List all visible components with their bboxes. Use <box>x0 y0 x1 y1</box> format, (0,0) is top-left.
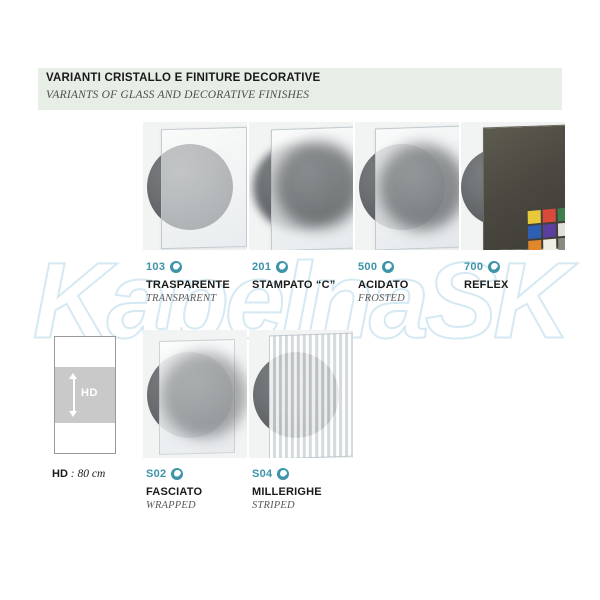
checker-swatch <box>558 207 565 221</box>
checker-swatch <box>528 225 541 239</box>
sample-name-it: STAMPATO “C” <box>252 279 367 291</box>
sample-name-it: TRASPARENTE <box>146 279 261 291</box>
hd-caption-bold: HD <box>52 468 68 480</box>
hd-caption-value: : 80 cm <box>68 468 105 480</box>
sample-name-it: ACIDATO <box>358 279 473 291</box>
finish-badge-icon <box>170 261 182 273</box>
finish-badge-icon <box>488 261 500 273</box>
sample-name-it: FASCIATO <box>146 486 261 498</box>
sample-label-fasciato[interactable]: S02 FASCIATO WRAPPED <box>146 466 261 511</box>
glass-pane-clear <box>161 127 247 249</box>
hd-dimension-diagram: HD <box>54 336 116 454</box>
diffused-sphere <box>379 144 459 230</box>
sample-image-fasciato[interactable] <box>143 330 247 458</box>
checker-swatch <box>528 210 541 224</box>
sample-image-acidato[interactable] <box>355 122 459 250</box>
diffused-sphere <box>161 352 247 438</box>
sample-name-en: TRANSPARENT <box>146 293 261 304</box>
sample-code: 201 <box>252 261 271 273</box>
glass-pane-striped <box>269 332 353 458</box>
checker-swatch <box>528 240 541 250</box>
hd-label: HD <box>81 387 98 399</box>
sample-label-reflex[interactable]: 700 REFLEX <box>464 259 579 293</box>
checker-swatch <box>543 224 556 238</box>
sample-code: 500 <box>358 261 377 273</box>
sample-code: 103 <box>146 261 165 273</box>
sample-label-stampato-c[interactable]: 201 STAMPATO “C” <box>252 259 367 293</box>
color-checker-chart <box>528 207 565 250</box>
sample-label-trasparente[interactable]: 103 TRASPARENTE TRANSPARENT <box>146 259 261 304</box>
sample-code: 700 <box>464 261 483 273</box>
checker-swatch <box>543 239 556 250</box>
sample-image-millerighe[interactable] <box>249 330 353 458</box>
sample-label-millerighe[interactable]: S04 MILLERIGHE STRIPED <box>252 466 367 511</box>
sample-name-it: REFLEX <box>464 279 579 291</box>
sample-image-stampato-c[interactable] <box>249 122 353 250</box>
sample-label-acidato[interactable]: 500 ACIDATO FROSTED <box>358 259 473 304</box>
sample-name-en: FROSTED <box>358 293 473 304</box>
hd-caption: HD : 80 cm <box>52 468 105 480</box>
samples-grid: 103 TRASPARENTE TRANSPARENT 201 STAMPATO… <box>0 0 600 600</box>
sample-name-en: WRAPPED <box>146 500 261 511</box>
sample-image-reflex[interactable] <box>461 122 565 250</box>
sample-image-trasparente[interactable] <box>143 122 247 250</box>
finish-badge-icon <box>276 261 288 273</box>
diffused-sphere <box>275 142 353 228</box>
finish-badge-icon <box>171 468 183 480</box>
checker-swatch <box>543 209 556 223</box>
sample-name-it: MILLERIGHE <box>252 486 367 498</box>
finish-badge-icon <box>277 468 289 480</box>
glass-pane-reflex <box>483 124 565 250</box>
checker-swatch <box>558 237 565 250</box>
sample-code: S04 <box>252 468 272 480</box>
sample-code: S02 <box>146 468 166 480</box>
checker-swatch <box>558 222 565 236</box>
catalog-page: KapelnaSK VARIANTI CRISTALLO E FINITURE … <box>0 0 600 600</box>
finish-badge-icon <box>382 261 394 273</box>
sample-name-en: STRIPED <box>252 500 367 511</box>
hd-double-arrow-icon <box>69 373 78 417</box>
